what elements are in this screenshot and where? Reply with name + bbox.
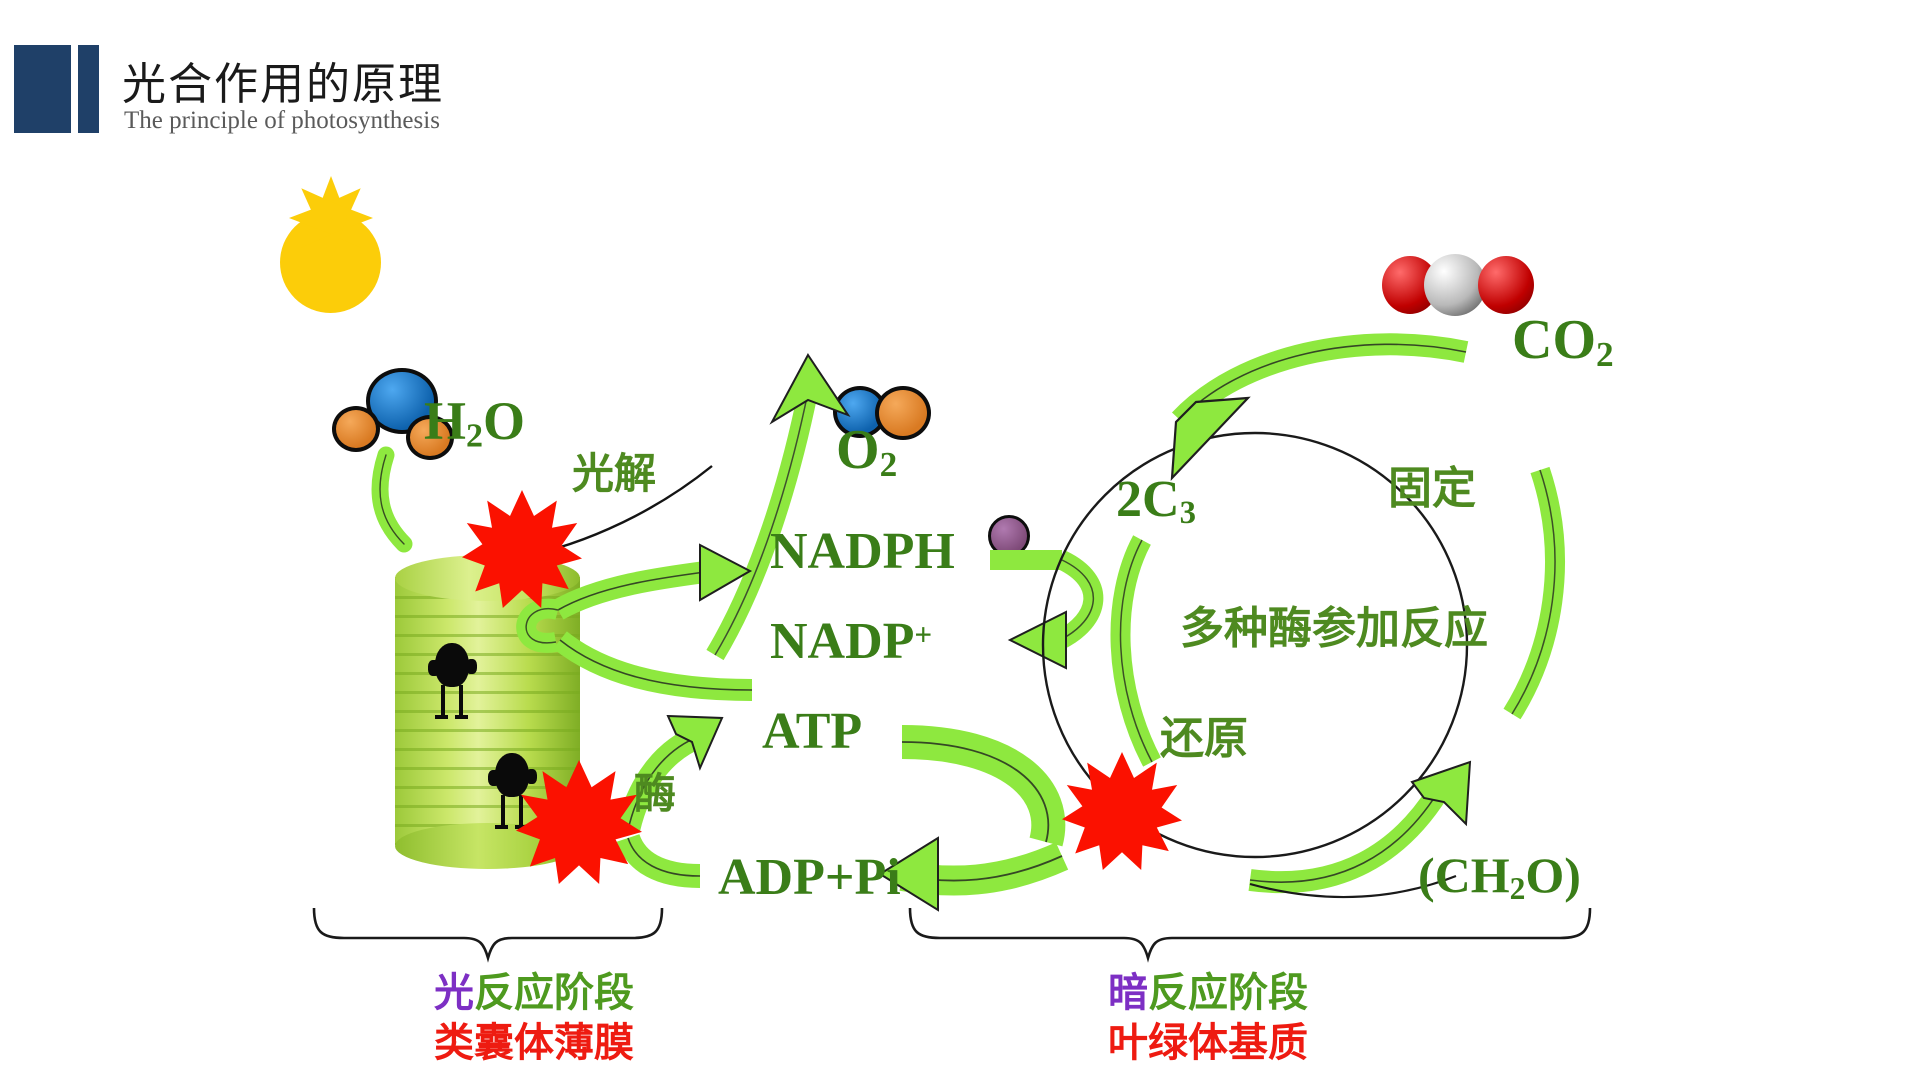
atp-to-cycle-band bbox=[902, 742, 1048, 842]
dark-reaction-site-label: 叶绿体基质 bbox=[1108, 1010, 1308, 1068]
adp-pi-label: ADP+Pi bbox=[718, 848, 901, 907]
nadph-arrow-shaft bbox=[558, 572, 705, 610]
dark-reaction-brace bbox=[910, 908, 1590, 958]
nadp-arrow-head-left bbox=[1010, 612, 1066, 668]
reduction-label: 还原 bbox=[1160, 702, 1248, 766]
diagram-arrows-layer bbox=[0, 0, 1923, 1072]
slide-canvas: 光合作用的原理 The principle of photosynthesis … bbox=[0, 0, 1923, 1072]
atp-label: ATP bbox=[762, 702, 862, 761]
cycle-right-band bbox=[1512, 470, 1555, 714]
carbohydrate-label: (CH2O) bbox=[1418, 846, 1581, 907]
enzyme-label: 酶 bbox=[634, 760, 676, 821]
c3-reduction-band bbox=[1120, 540, 1152, 762]
nadph-label: NADPH bbox=[770, 522, 955, 581]
fixation-label: 固定 bbox=[1388, 452, 1476, 516]
nadp-plus-label: NADP+ bbox=[770, 612, 932, 671]
light-reaction-brace bbox=[314, 908, 662, 958]
photolysis-label: 光解 bbox=[572, 440, 656, 501]
light-reaction-site-label: 类囊体薄膜 bbox=[434, 1010, 634, 1068]
enzymes-note-label: 多种酶参加反应 bbox=[1180, 592, 1488, 656]
c3-label: 2C3 bbox=[1116, 470, 1196, 532]
